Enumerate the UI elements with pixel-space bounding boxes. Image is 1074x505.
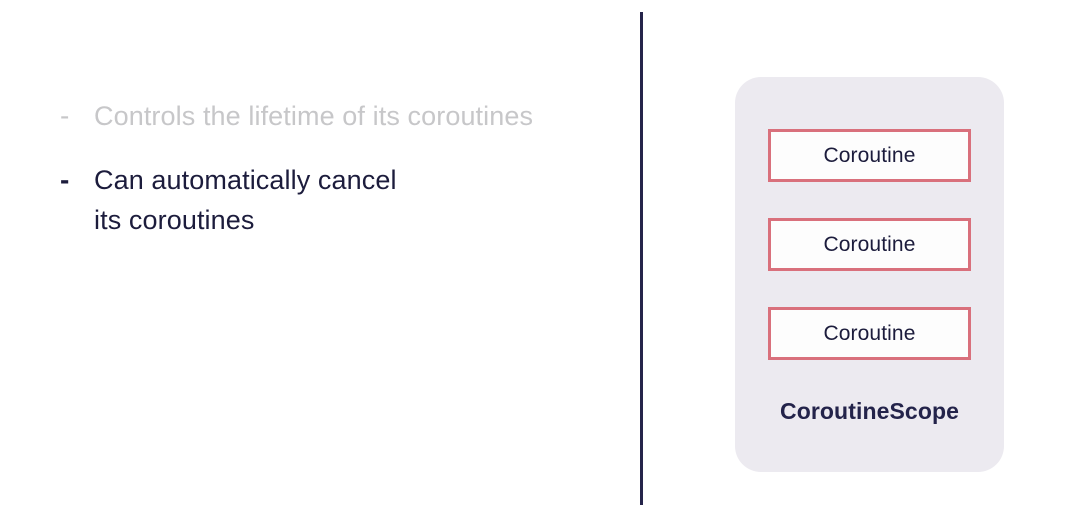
bullet-item-label: Controls the lifetime of its coroutines	[94, 96, 620, 136]
slide-canvas: - Controls the lifetime of its coroutine…	[0, 0, 1074, 505]
coroutine-box-label: Coroutine	[824, 144, 916, 168]
coroutine-box-label: Coroutine	[824, 322, 916, 346]
coroutine-box-label: Coroutine	[824, 233, 916, 257]
bullet-item-cancel: - Can automatically cancel its coroutine…	[60, 160, 620, 240]
vertical-divider	[640, 12, 643, 505]
coroutine-scope-panel: Coroutine Coroutine Coroutine CoroutineS…	[735, 77, 1004, 472]
bullet-item-label: Can automatically cancel its coroutines	[94, 160, 620, 240]
coroutine-box: Coroutine	[768, 307, 971, 360]
dash-bullet-icon: -	[60, 96, 94, 136]
coroutine-box: Coroutine	[768, 129, 971, 182]
coroutine-scope-label: CoroutineScope	[735, 398, 1004, 425]
bullet-item-lifetime: - Controls the lifetime of its coroutine…	[60, 96, 620, 136]
bullet-list: - Controls the lifetime of its coroutine…	[60, 96, 620, 240]
dash-bullet-icon: -	[60, 160, 94, 200]
coroutine-box: Coroutine	[768, 218, 971, 271]
coroutine-box-stack: Coroutine Coroutine Coroutine	[768, 129, 971, 360]
